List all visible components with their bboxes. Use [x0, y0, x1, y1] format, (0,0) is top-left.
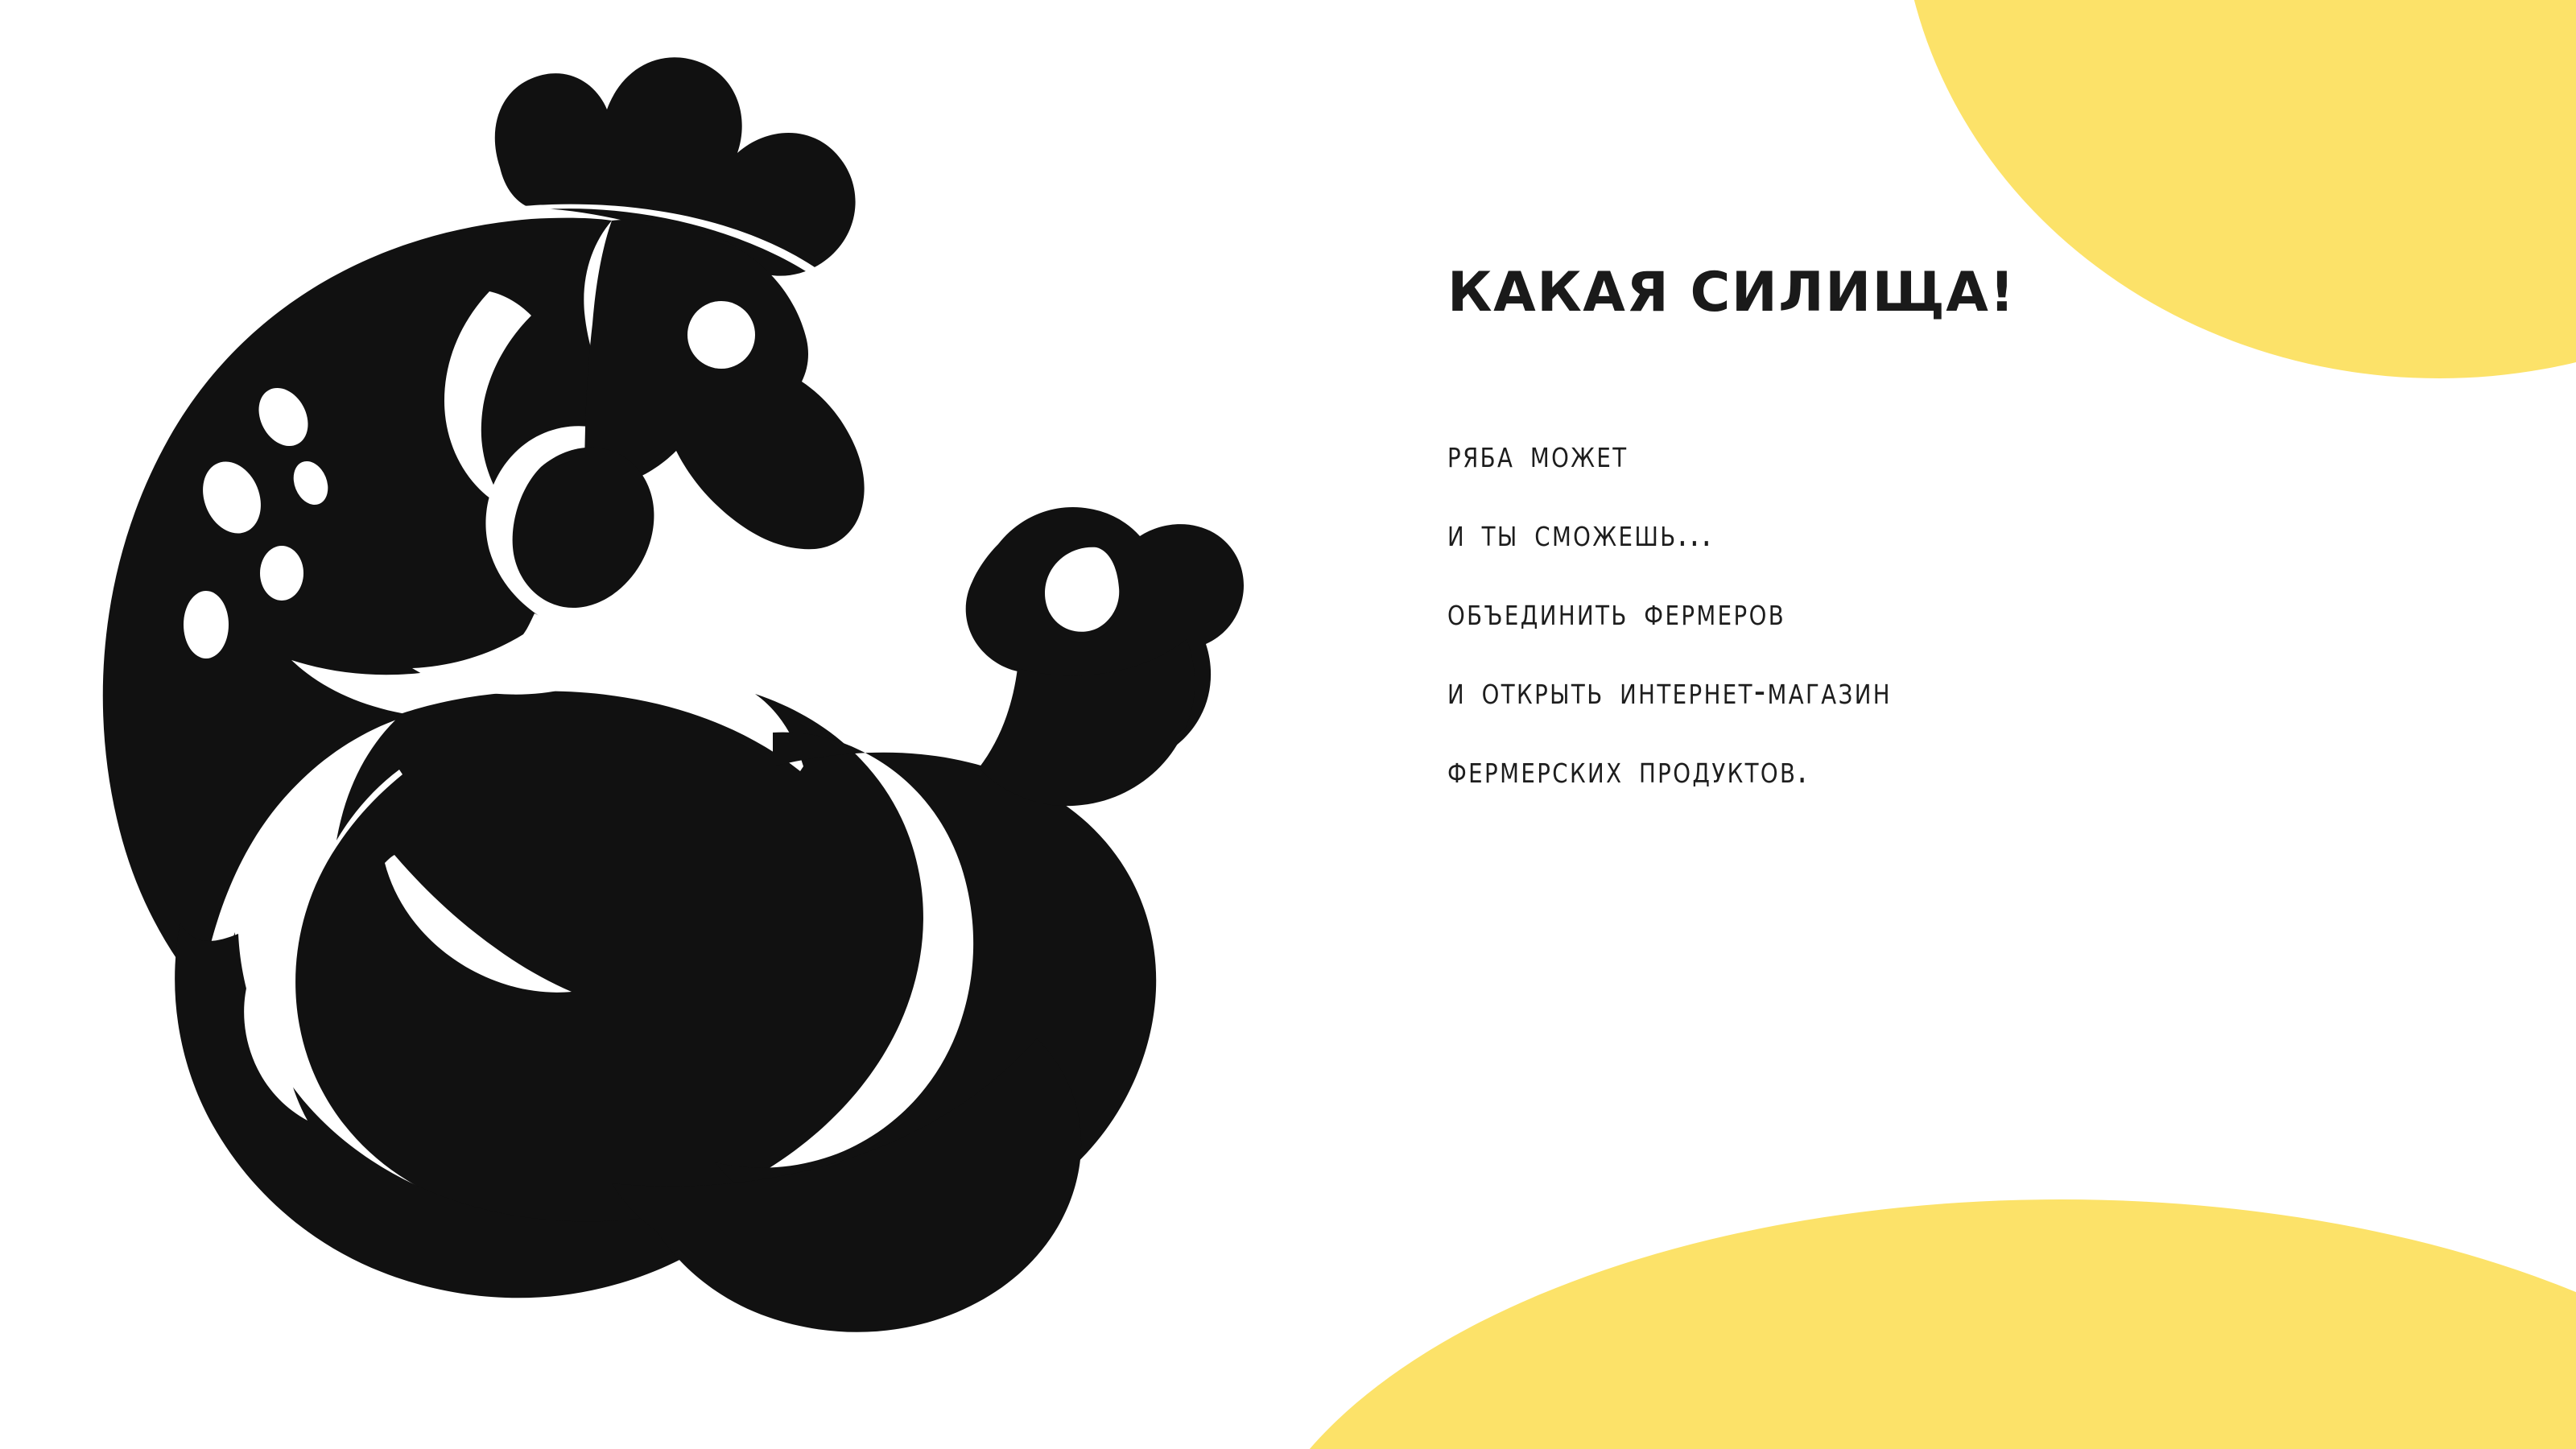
wattle	[513, 448, 654, 608]
text-column: КАКАЯ СИЛИЩА! Ряба может и ты сможешь...…	[1447, 266, 2397, 810]
chicken-mascot-illustration	[48, 32, 1304, 1385]
body-line: фермерских продуктов.	[1447, 731, 2330, 810]
speckle-5	[184, 591, 229, 658]
body-line: Ряба может	[1447, 415, 2330, 494]
body-paragraph: Ряба может и ты сможешь... объединить фе…	[1447, 415, 2397, 810]
chicken-silhouette	[103, 57, 1244, 1331]
flexed-arm	[295, 691, 923, 1225]
eye	[687, 301, 755, 369]
slide-canvas: КАКАЯ СИЛИЩА! Ряба может и ты сможешь...…	[0, 0, 2576, 1449]
page-title: КАКАЯ СИЛИЩА!	[1447, 266, 2397, 320]
bottom-right-yellow-ellipse	[1240, 1199, 2576, 1449]
speckle-4	[260, 546, 303, 601]
body-line: объединить фермеров	[1447, 573, 2330, 652]
body-line: и ты сможешь...	[1447, 494, 2330, 573]
body-line: и открыть интернет-магазин	[1447, 652, 2330, 731]
